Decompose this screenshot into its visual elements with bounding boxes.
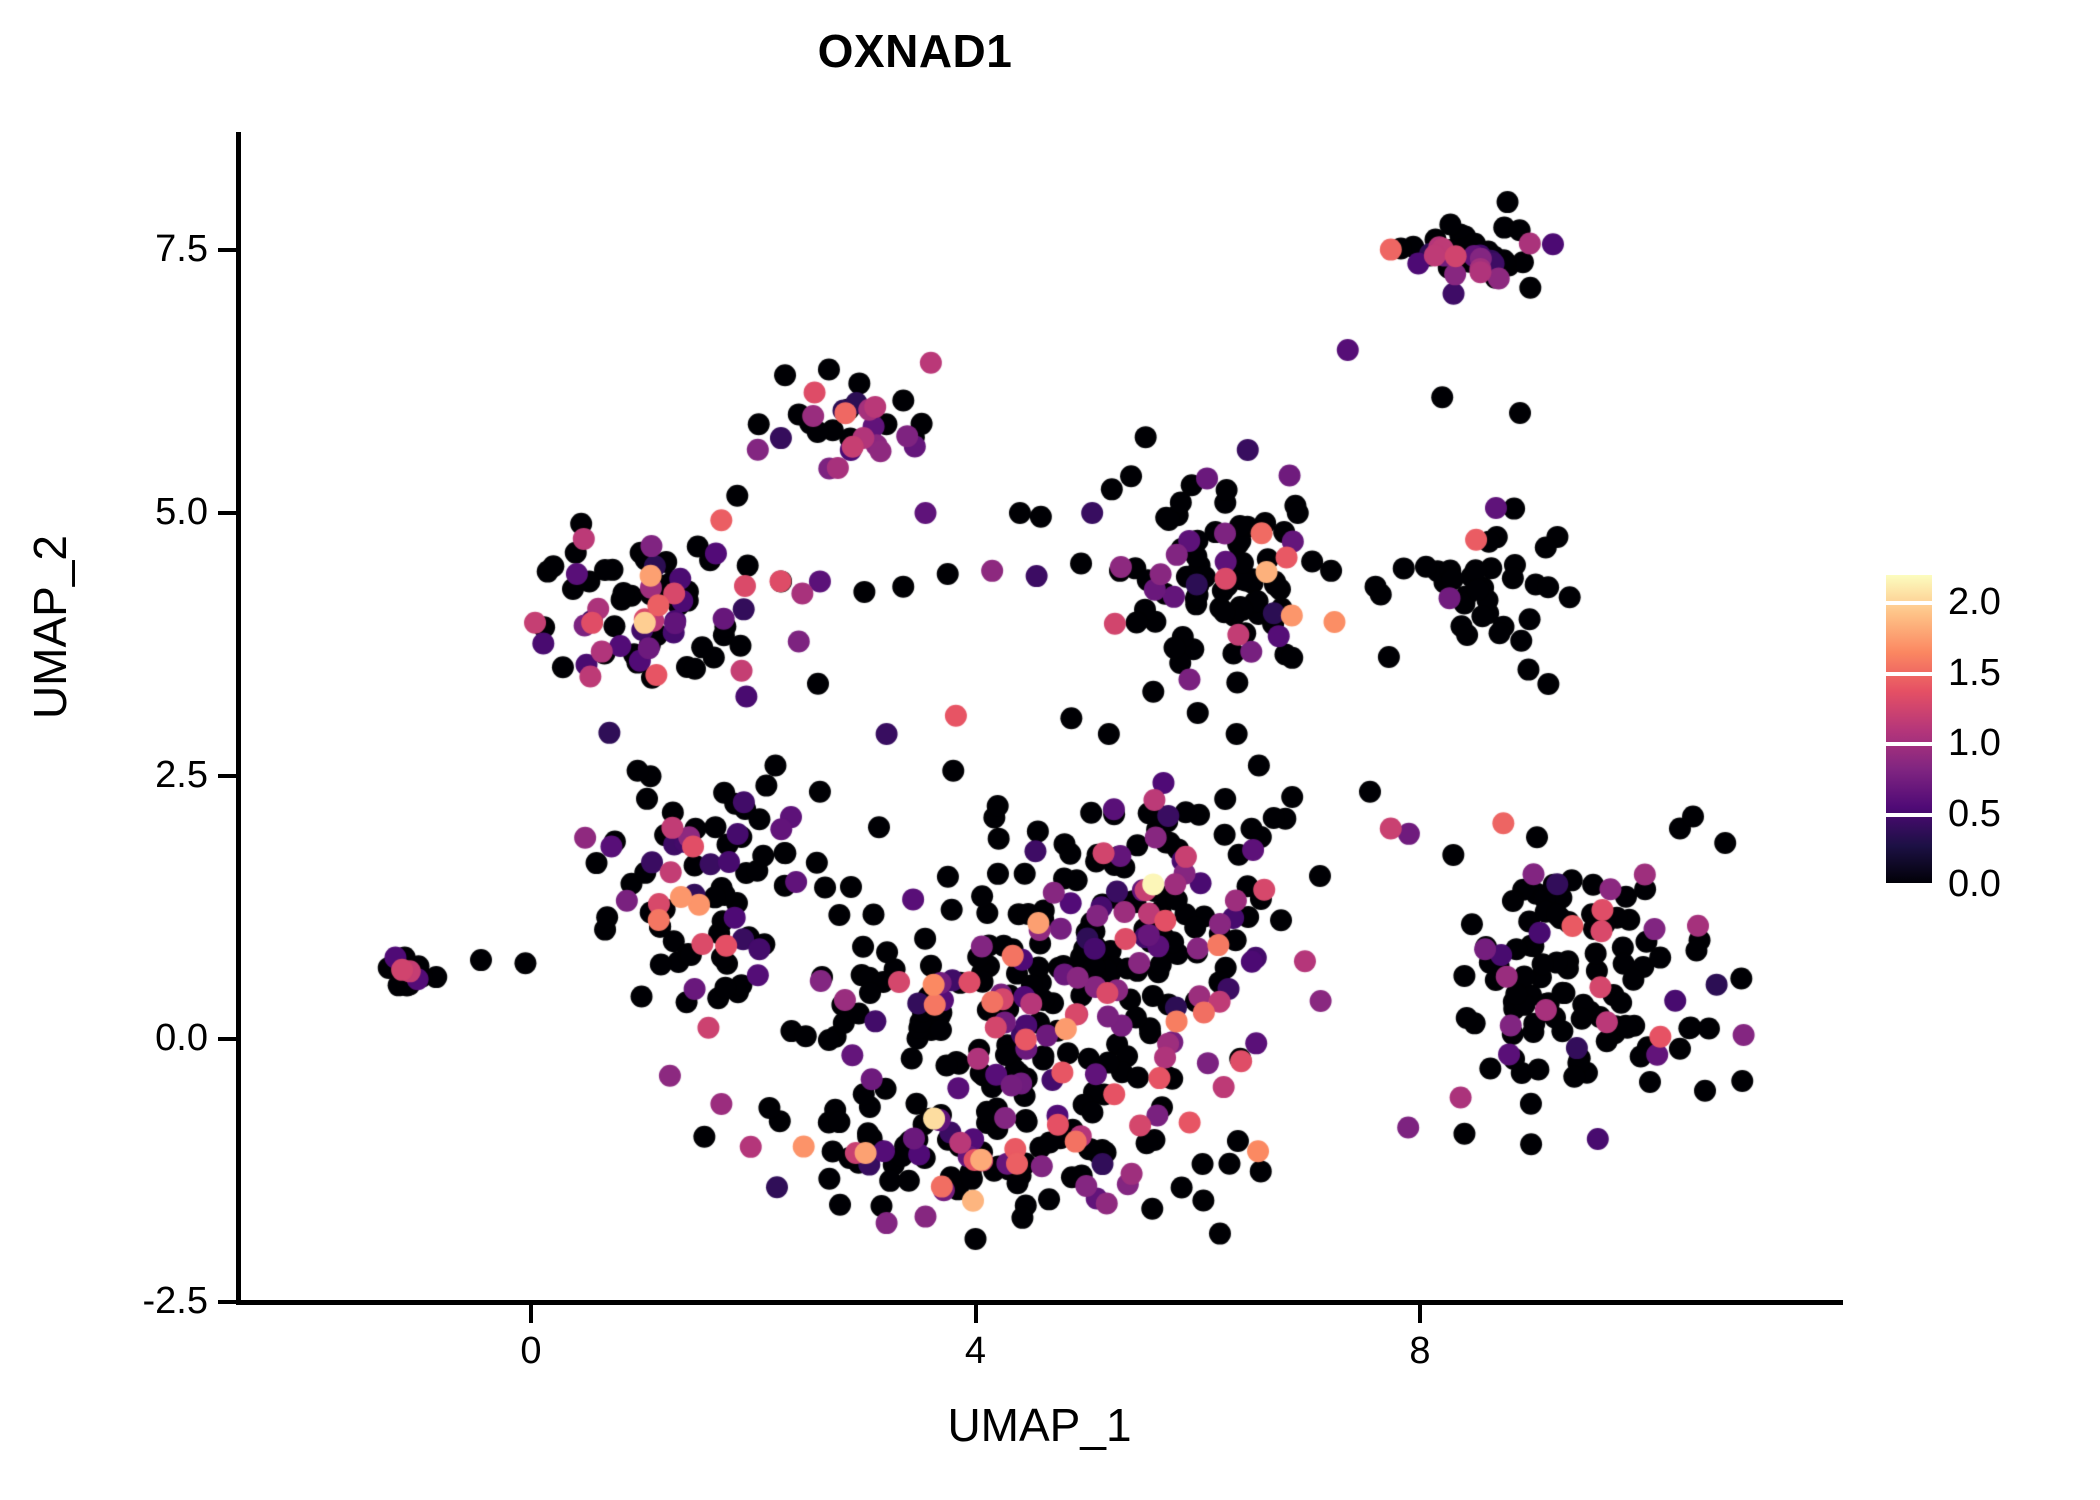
colorbar-tick [1886, 883, 1932, 887]
colorbar-tick [1886, 813, 1932, 817]
colorbar-tick-label: 2.0 [1948, 583, 2001, 621]
x-tick-mark [1418, 1305, 1422, 1323]
y-tick-mark [218, 248, 236, 252]
colorbar-tick [1886, 601, 1932, 605]
plot-panel [238, 132, 1843, 1302]
colorbar-tick-label: 1.0 [1948, 724, 2001, 762]
x-axis-line [236, 1300, 1843, 1305]
colorbar-tick [1886, 672, 1932, 676]
y-tick-label: 0.0 [78, 1017, 208, 1060]
y-tick-label: 7.5 [78, 228, 208, 271]
y-tick-mark [218, 1037, 236, 1041]
y-tick-label: -2.5 [78, 1280, 208, 1323]
y-tick-label: 5.0 [78, 491, 208, 534]
colorbar-tick [1886, 742, 1932, 746]
y-tick-mark [218, 511, 236, 515]
y-tick-mark [218, 774, 236, 778]
x-axis-title: UMAP_1 [236, 1398, 1843, 1452]
colorbar-gradient [1886, 575, 1932, 885]
colorbar-legend: 0.00.51.01.52.0 [1886, 575, 2076, 895]
y-tick-label: 2.5 [78, 754, 208, 797]
colorbar-tick-label: 0.5 [1948, 795, 2001, 833]
x-tick-label: 4 [916, 1330, 1036, 1373]
scatter-points-layer [238, 132, 1843, 1302]
x-tick-mark [974, 1305, 978, 1323]
x-tick-mark [529, 1305, 533, 1323]
page-title: OXNAD1 [0, 24, 1830, 78]
x-tick-label: 8 [1360, 1330, 1480, 1373]
y-axis-title: UMAP_2 [23, 247, 77, 1007]
colorbar-tick-label: 0.0 [1948, 865, 2001, 903]
colorbar-tick-label: 1.5 [1948, 654, 2001, 692]
chart-root: OXNAD1 7.55.02.50.0-2.5 048 UMAP_2 UMAP_… [0, 0, 2100, 1500]
y-axis-line [236, 132, 241, 1304]
x-tick-label: 0 [471, 1330, 591, 1373]
y-tick-mark [218, 1300, 236, 1304]
